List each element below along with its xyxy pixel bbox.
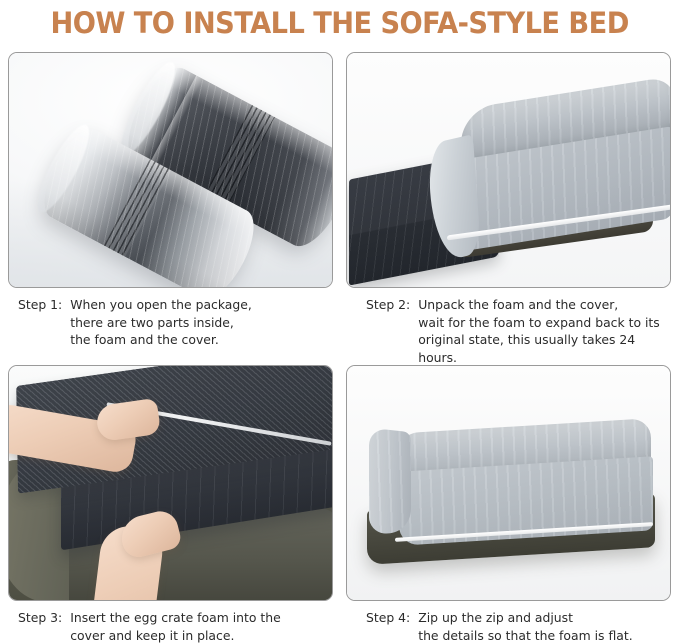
step-3-label: Step 3: — [18, 609, 70, 627]
steps-grid: Step 1: When you open the package, there… — [0, 46, 679, 644]
assembled-sofa-bed — [365, 414, 657, 566]
step-4-text: Zip up the zip and adjust the details so… — [418, 609, 676, 644]
step-1-label: Step 1: — [18, 296, 70, 314]
step-1-image-cell — [8, 52, 333, 288]
step-4-caption: Step 4: Zip up the zip and adjust the de… — [366, 609, 676, 644]
step-3-text: Insert the egg crate foam into the cover… — [70, 609, 338, 644]
bed-side-bolster — [369, 428, 411, 536]
step-3-caption: Step 3: Insert the egg crate foam into t… — [18, 609, 338, 644]
page-header: HOW TO INSTALL THE SOFA-STYLE BED — [0, 0, 679, 44]
step-1-photo — [8, 52, 333, 288]
step-3-photo — [8, 365, 333, 601]
step-4-image-cell — [346, 365, 671, 601]
step-2-image-cell — [346, 52, 671, 288]
page-title: HOW TO INSTALL THE SOFA-STYLE BED — [50, 6, 628, 40]
step-1-caption: Step 1: When you open the package, there… — [18, 296, 338, 349]
cover-corner-flap — [427, 134, 481, 263]
step-2-photo — [346, 52, 671, 288]
step-2-text: Unpack the foam and the cover, wait for … — [418, 296, 676, 366]
step-1-text: When you open the package, there are two… — [70, 296, 338, 349]
step-4-label: Step 4: — [366, 609, 418, 627]
step-2-label: Step 2: — [366, 296, 418, 314]
step-3-image-cell — [8, 365, 333, 601]
step-4-photo — [346, 365, 671, 601]
roll-strap-band — [104, 159, 171, 257]
step-2-caption: Step 2: Unpack the foam and the cover, w… — [366, 296, 676, 366]
velvet-texture — [369, 428, 411, 536]
